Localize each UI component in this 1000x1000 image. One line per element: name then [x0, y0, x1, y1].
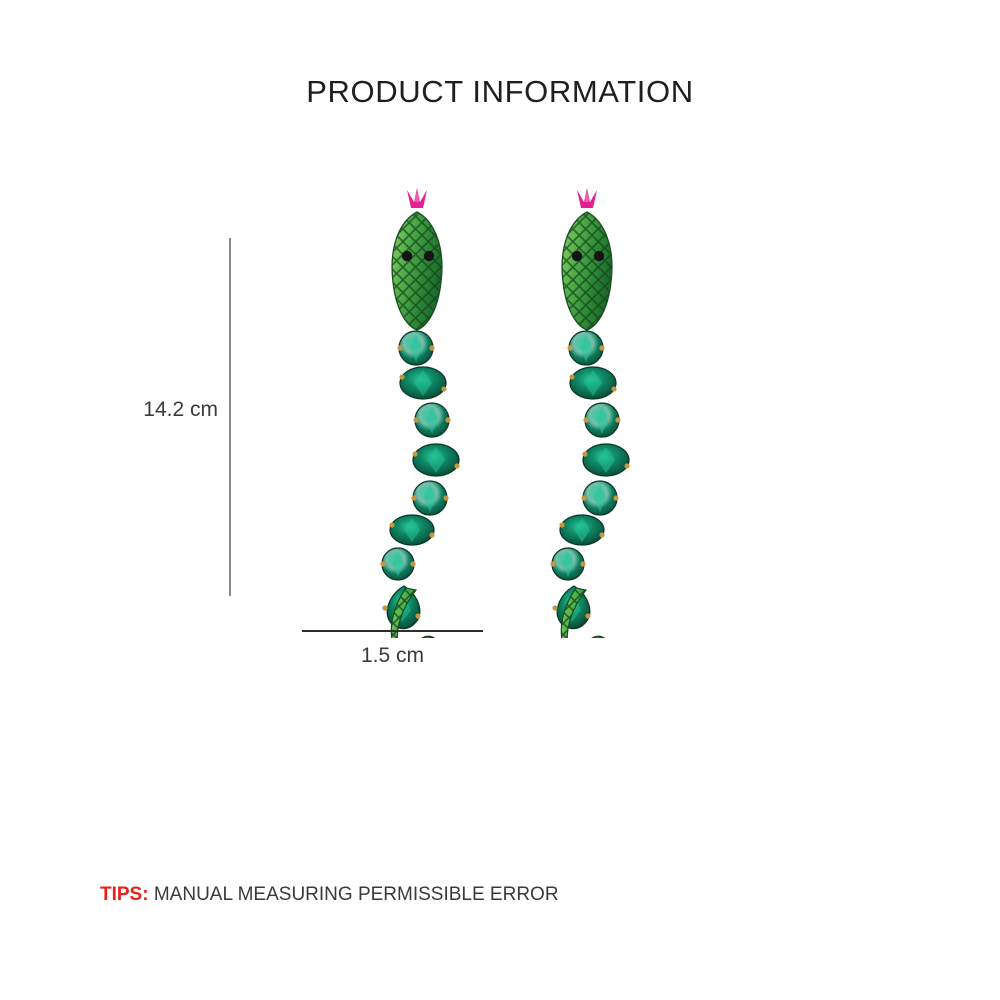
gem-round [583, 403, 620, 437]
gem-oval [569, 367, 616, 399]
height-measurement-label: 14.2 cm [100, 398, 218, 422]
gem-oval [582, 444, 629, 476]
gem-oval [559, 515, 604, 545]
gem-round [550, 548, 585, 580]
snake-eye-left [402, 251, 412, 261]
tips-text: MANUAL MEASURING PERMISSIBLE ERROR [154, 884, 559, 905]
gem-round [380, 548, 415, 580]
width-measurement-line [302, 630, 483, 632]
tips-note: TIPS: MANUAL MEASURING PERMISSIBLE ERROR [100, 884, 559, 906]
snake-tongue-icon [407, 188, 427, 208]
snake-tongue-icon [577, 188, 597, 208]
product-image-left-earring [352, 178, 482, 638]
page-title: PRODUCT INFORMATION [0, 74, 1000, 110]
snake-eye-right [594, 251, 604, 261]
snake-head [552, 206, 624, 338]
gem-round [411, 481, 448, 515]
gem-oval [389, 515, 434, 545]
gem-round [397, 331, 434, 365]
gem-round [567, 331, 604, 365]
gem-round [581, 481, 618, 515]
snake-eye-left [572, 251, 582, 261]
height-measurement-line [229, 238, 231, 596]
gem-chain [380, 331, 459, 629]
width-measurement-label: 1.5 cm [302, 644, 483, 668]
gem-oval [412, 444, 459, 476]
product-image-right-earring [522, 178, 652, 638]
snake-head [382, 206, 454, 338]
tips-label: TIPS: [100, 884, 149, 905]
snake-eye-right [424, 251, 434, 261]
gem-chain [550, 331, 629, 629]
gem-oval [399, 367, 446, 399]
gem-round [413, 403, 450, 437]
